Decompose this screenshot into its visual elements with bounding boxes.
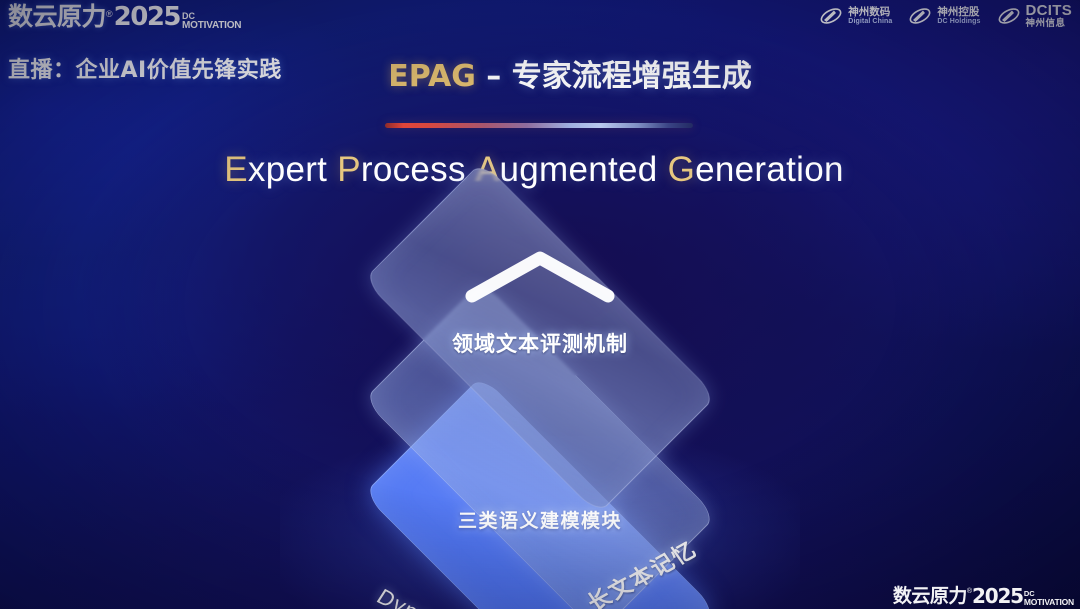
page-subtitle: Expert Process Augmented Generation [0,150,1080,190]
partner-name-cn: 神州信息 [1026,19,1073,30]
partner-logo-digital-china: 神州数码 Digital China [819,5,892,27]
chevron-up-icon [460,246,620,308]
layer-top-label: 领域文本评测机制 [452,328,628,358]
subtitle-rest-generation: eneration [695,150,844,189]
partner-text: 神州数码 Digital China [848,7,892,25]
subtitle-rest-expert: xpert [248,150,327,189]
swoosh-logo-icon [819,5,843,27]
partner-name-cn: 神州控股 [937,7,980,18]
brand-name-cn: 数云原力 [8,2,106,32]
registered-mark: ® [106,8,113,20]
slide-root: 数云原力 ® 2025 DC MOTIVATION 直播：企业AI价值先锋实践 … [0,0,1080,609]
footer-watermark-logo: 数云原力 ® 2025 DC MOTIVATION [893,585,1074,607]
title-chinese: 专家流程增强生成 [512,59,752,94]
brand-dc-motivation: DC MOTIVATION [182,12,241,31]
watermark-dc-motivation: DC MOTIVATION [1024,590,1074,606]
brand-motivation-label: MOTIVATION [182,21,241,31]
brand-logo: 数云原力 ® 2025 DC MOTIVATION [8,2,241,32]
subtitle-cap-g: G [668,150,696,189]
title-acronym: EPAG [388,59,476,94]
swoosh-logo-icon [997,5,1021,27]
partner-name-en: DCITS [1026,3,1073,19]
subtitle-rest-process: rocess [361,150,466,189]
partner-logo-group: 神州数码 Digital China 神州控股 DC Holdings DCIT… [819,3,1072,30]
partner-name-cn: 神州数码 [848,7,892,18]
gradient-divider [385,123,693,128]
partner-text: 神州控股 DC Holdings [937,7,980,25]
partner-logo-dc-holdings: 神州控股 DC Holdings [908,5,980,27]
subtitle-cap-e: E [224,150,248,189]
page-title: EPAG – 专家流程增强生成 [0,51,1080,95]
layer-bottom-label: 三类语义建模模块 [458,506,622,533]
layered-architecture-diagram: 领域文本评测机制 Dynamic MOE 长文本记忆 三类语义建模模块 [0,196,1080,596]
brand-year: 2025 [114,2,180,32]
watermark-year: 2025 [972,585,1023,607]
partner-text: DCITS 神州信息 [1026,3,1073,30]
subtitle-cap-p: P [337,150,361,189]
watermark-motivation-label: MOTIVATION [1024,598,1074,607]
watermark-name-cn: 数云原力 [893,585,967,607]
title-dash: – [476,59,512,94]
swoosh-logo-icon [908,5,932,27]
partner-name-en: DC Holdings [937,18,980,25]
partner-name-en: Digital China [848,18,892,25]
partner-logo-dcits: DCITS 神州信息 [997,3,1073,30]
subtitle-rest-augmented: ugmented [499,150,657,189]
